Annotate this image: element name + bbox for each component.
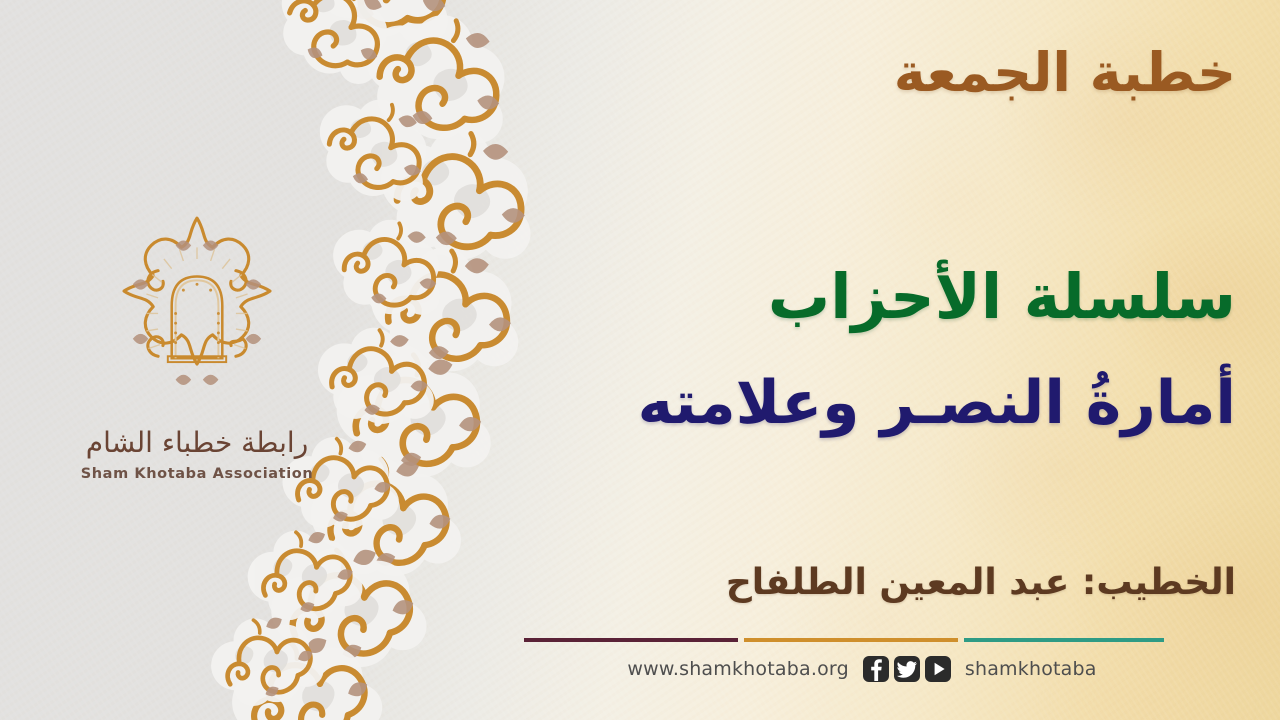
divider-segment-maroon xyxy=(524,638,738,642)
footer-bar: www.shamkhotaba.org xyxy=(524,638,1164,682)
kicker-khutbat-aljumua: خطبة الجمعة xyxy=(894,45,1236,102)
divider-segment-teal xyxy=(964,638,1164,642)
sermon-title: أمارةُ النصـر وعلامته xyxy=(638,369,1236,437)
brand-logo-block: رابطة خطباء الشام Sham Khotaba Associati… xyxy=(58,212,336,482)
website-url[interactable]: www.shamkhotaba.org xyxy=(627,658,848,680)
facebook-icon[interactable] xyxy=(863,656,889,682)
footer-content-row: www.shamkhotaba.org xyxy=(524,656,1164,682)
twitter-icon[interactable] xyxy=(894,656,920,682)
content-column: خطبة الجمعة سلسلة الأحزاب أمارةُ النصـر … xyxy=(376,0,1236,720)
social-handle[interactable]: shamkhotaba xyxy=(965,658,1097,680)
sermon-card: رابطة خطباء الشام Sham Khotaba Associati… xyxy=(0,0,1280,720)
mihrab-arch-ornament-icon xyxy=(90,212,304,412)
logo-name-english: Sham Khotaba Association xyxy=(58,466,336,482)
tricolor-divider xyxy=(524,638,1164,642)
logo-name-arabic: رابطة خطباء الشام xyxy=(58,428,336,459)
series-title: سلسلة الأحزاب xyxy=(768,262,1236,331)
divider-segment-orange xyxy=(744,638,958,642)
youtube-icon[interactable] xyxy=(925,656,951,682)
social-icon-group xyxy=(863,656,951,682)
speaker-name: الخطيب: عبد المعين الطلفاح xyxy=(726,562,1236,603)
